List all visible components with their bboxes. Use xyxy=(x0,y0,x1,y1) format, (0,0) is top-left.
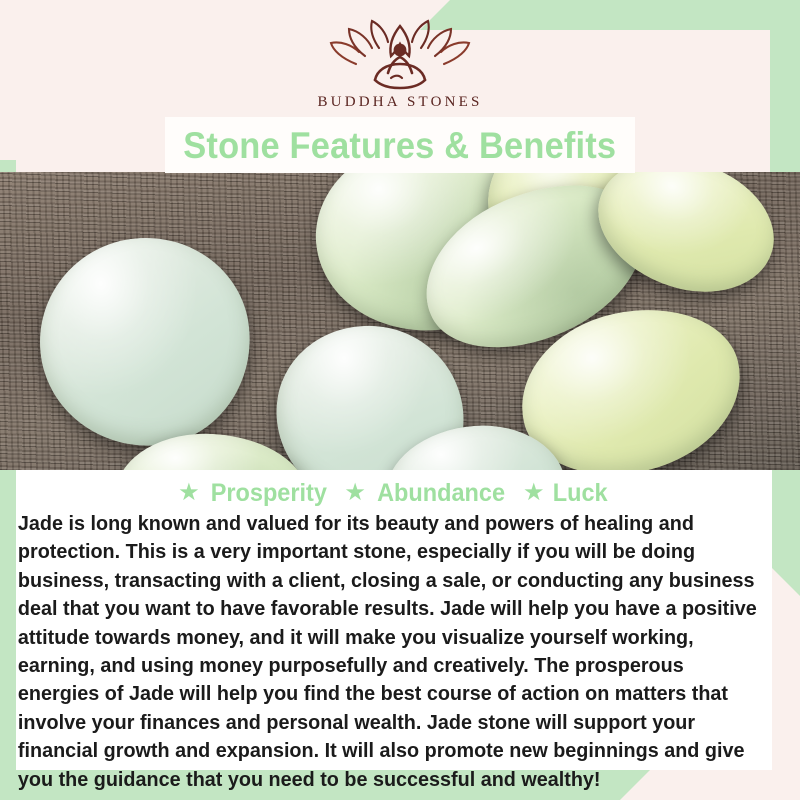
keyword-label: Prosperity xyxy=(210,481,326,506)
star-icon: ★ xyxy=(344,481,366,505)
star-icon: ★ xyxy=(178,481,200,505)
page-title: Stone Features & Benefits xyxy=(184,127,617,164)
keyword-item: ★ Abundance xyxy=(344,481,509,506)
keyword-label: Abundance xyxy=(377,481,505,506)
description-text: Jade is long known and valued for its be… xyxy=(16,510,765,794)
stone-photo: Jade xyxy=(0,172,800,470)
brand-logo: BUDDHA STONES xyxy=(0,18,800,114)
keyword-item: ★ Prosperity xyxy=(178,481,330,506)
poster-canvas: BUDDHA STONES Stone Features & Benefits … xyxy=(0,0,800,800)
section-title-band: Stone Features & Benefits xyxy=(165,117,635,173)
keyword-item: ★ Luck xyxy=(523,481,610,506)
lotus-meditation-icon xyxy=(325,18,475,90)
description-panel: ★ Prosperity ★ Abundance ★ Luck Jade is … xyxy=(16,470,772,770)
brand-wordmark: BUDDHA STONES xyxy=(317,94,482,111)
keyword-list: ★ Prosperity ★ Abundance ★ Luck xyxy=(16,476,772,510)
keyword-label: Luck xyxy=(553,481,608,506)
star-icon: ★ xyxy=(523,481,545,505)
